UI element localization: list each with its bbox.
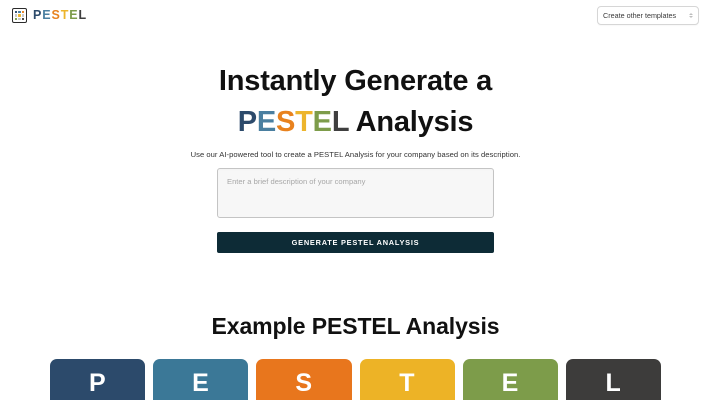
example-card-e-1[interactable]: E: [153, 359, 248, 400]
hero-subtitle: Use our AI-powered tool to create a PEST…: [0, 150, 711, 159]
brand-letter-5: L: [79, 8, 88, 22]
example-section-title: Example PESTEL Analysis: [0, 313, 711, 340]
brand-name: PESTEL: [33, 9, 87, 22]
hero-letter-3: T: [295, 106, 313, 138]
example-card-s-2[interactable]: S: [256, 359, 351, 400]
example-card-letter: T: [399, 369, 415, 398]
page-title-line2: PESTEL Analysis: [0, 104, 711, 142]
chevron-updown-icon: [689, 13, 693, 18]
example-card-p-0[interactable]: P: [50, 359, 145, 400]
create-other-templates-label: Create other templates: [603, 11, 676, 20]
grid-table-icon: [12, 8, 27, 23]
company-description-input[interactable]: [217, 168, 494, 218]
brand-letter-3: T: [61, 8, 70, 22]
hero-letter-0: P: [238, 106, 257, 138]
page-title-line1: Instantly Generate a: [0, 63, 711, 101]
example-card-letter: E: [192, 369, 209, 398]
example-card-e-4[interactable]: E: [463, 359, 558, 400]
brand-letter-1: E: [42, 8, 51, 22]
create-other-templates-select[interactable]: Create other templates: [597, 6, 699, 25]
hero-letter-2: S: [276, 106, 295, 138]
generate-pestel-analysis-button[interactable]: GENERATE PESTEL ANALYSIS: [217, 232, 494, 253]
brand-letter-0: P: [33, 8, 42, 22]
example-card-letter: P: [89, 369, 106, 398]
pestel-colored-word: PESTEL: [238, 106, 349, 138]
example-card-letter: S: [295, 369, 312, 398]
analysis-word: Analysis: [349, 106, 473, 138]
hero-section: Instantly Generate a PESTEL Analysis Use…: [0, 63, 711, 159]
example-card-letter: L: [606, 369, 622, 398]
app-header: PESTEL Create other templates: [0, 0, 711, 31]
brand-logo[interactable]: PESTEL: [12, 8, 87, 23]
example-card-l-5[interactable]: L: [566, 359, 661, 400]
example-card-letter: E: [502, 369, 519, 398]
example-card-t-3[interactable]: T: [360, 359, 455, 400]
generator-form: GENERATE PESTEL ANALYSIS: [217, 168, 494, 253]
hero-letter-5: L: [332, 106, 349, 138]
brand-letter-4: E: [69, 8, 78, 22]
pestel-generator-page: PESTEL Create other templates Instantly …: [0, 0, 711, 400]
hero-letter-4: E: [313, 106, 332, 138]
example-pestel-cards: PESTEL: [50, 359, 661, 400]
hero-letter-1: E: [257, 106, 276, 138]
brand-letter-2: S: [52, 8, 61, 22]
